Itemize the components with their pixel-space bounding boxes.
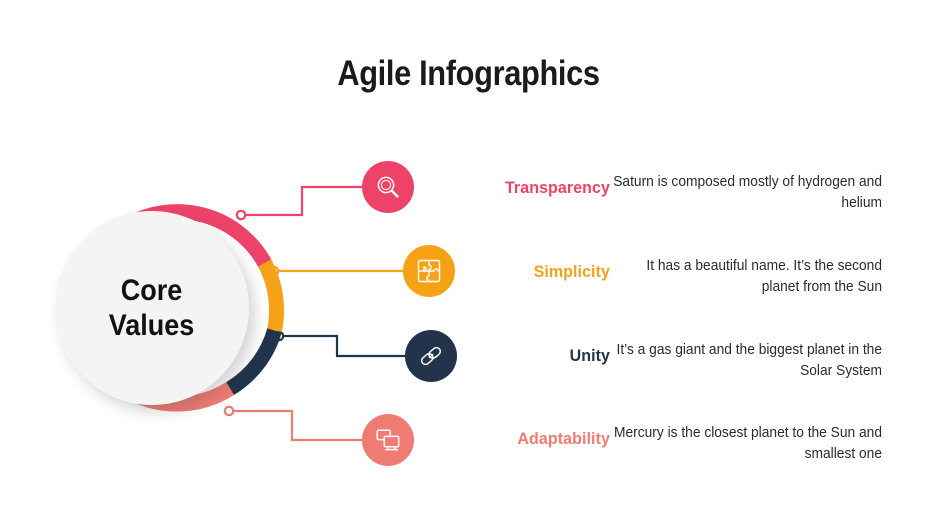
row-label-adaptability: Adaptability	[413, 429, 610, 449]
icon-badge-transparency[interactable]	[362, 161, 414, 213]
row-description-transparency: Saturn is composed mostly of hydrogen an…	[607, 172, 883, 213]
row-label-transparency: Transparency	[413, 178, 610, 198]
core-values-line-2: Values	[109, 308, 195, 343]
row-label-unity: Unity	[413, 346, 610, 366]
devices-icon	[374, 426, 402, 454]
ring-segment-simplicity	[265, 263, 277, 330]
row-description-unity: It’s a gas giant and the biggest planet …	[607, 340, 883, 381]
row-label-simplicity: Simplicity	[413, 262, 610, 282]
row-description-adaptability: Mercury is the closest planet to the Sun…	[607, 423, 883, 464]
row-description-simplicity: It has a beautiful name. It’s the second…	[607, 256, 883, 297]
core-values-donut: Core Values	[55, 198, 295, 418]
core-values-label: Core Values	[109, 273, 195, 344]
core-values-line-1: Core	[109, 273, 195, 308]
icon-badge-adaptability[interactable]	[362, 414, 414, 466]
core-values-circle: Core Values	[55, 211, 249, 405]
page-title: Agile Infographics	[56, 54, 881, 94]
magnifier-icon	[374, 173, 402, 201]
